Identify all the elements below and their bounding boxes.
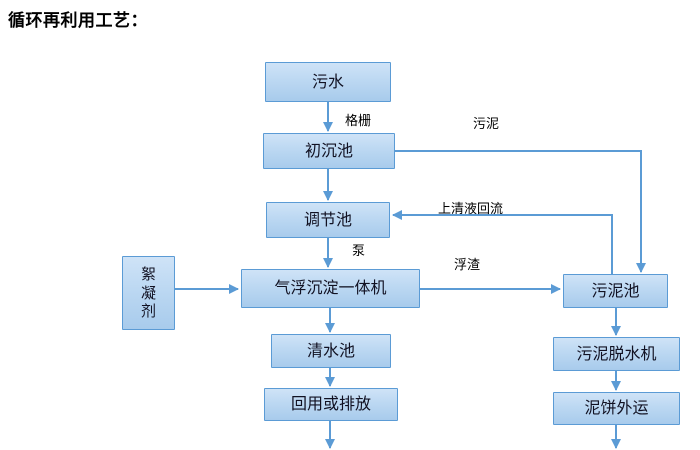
node-primary-sedimentation-tank[interactable]: 初沉池 <box>263 133 395 169</box>
node-regulating-tank[interactable]: 调节池 <box>266 202 390 238</box>
node-sludge-dewatering-machine[interactable]: 污泥脱水机 <box>553 337 680 371</box>
connector-primary-to-sludge-tank <box>395 151 641 272</box>
connector-sludge-tank-to-regulating <box>393 215 612 274</box>
edge-label-grate: 格栅 <box>345 110 371 129</box>
edge-label-pump: 泵 <box>352 240 365 259</box>
node-clean-water-tank[interactable]: 清水池 <box>271 334 391 368</box>
node-flocculant[interactable]: 絮 凝 剂 <box>122 256 175 330</box>
node-air-flotation-sedimentation-machine[interactable]: 气浮沉淀一体机 <box>241 269 420 308</box>
edge-label-sludge: 污泥 <box>473 113 499 132</box>
edge-label-scum: 浮渣 <box>454 254 480 273</box>
flowchart-canvas: 循环再利用工艺： <box>0 0 700 450</box>
edge-label-supernatant-return: 上清液回流 <box>438 198 503 217</box>
page-title: 循环再利用工艺： <box>8 6 148 31</box>
node-sludge-tank[interactable]: 污泥池 <box>563 274 668 308</box>
node-mud-cake-transport[interactable]: 泥饼外运 <box>553 392 680 425</box>
node-reuse-or-discharge[interactable]: 回用或排放 <box>264 388 398 421</box>
node-wastewater[interactable]: 污水 <box>265 62 391 102</box>
